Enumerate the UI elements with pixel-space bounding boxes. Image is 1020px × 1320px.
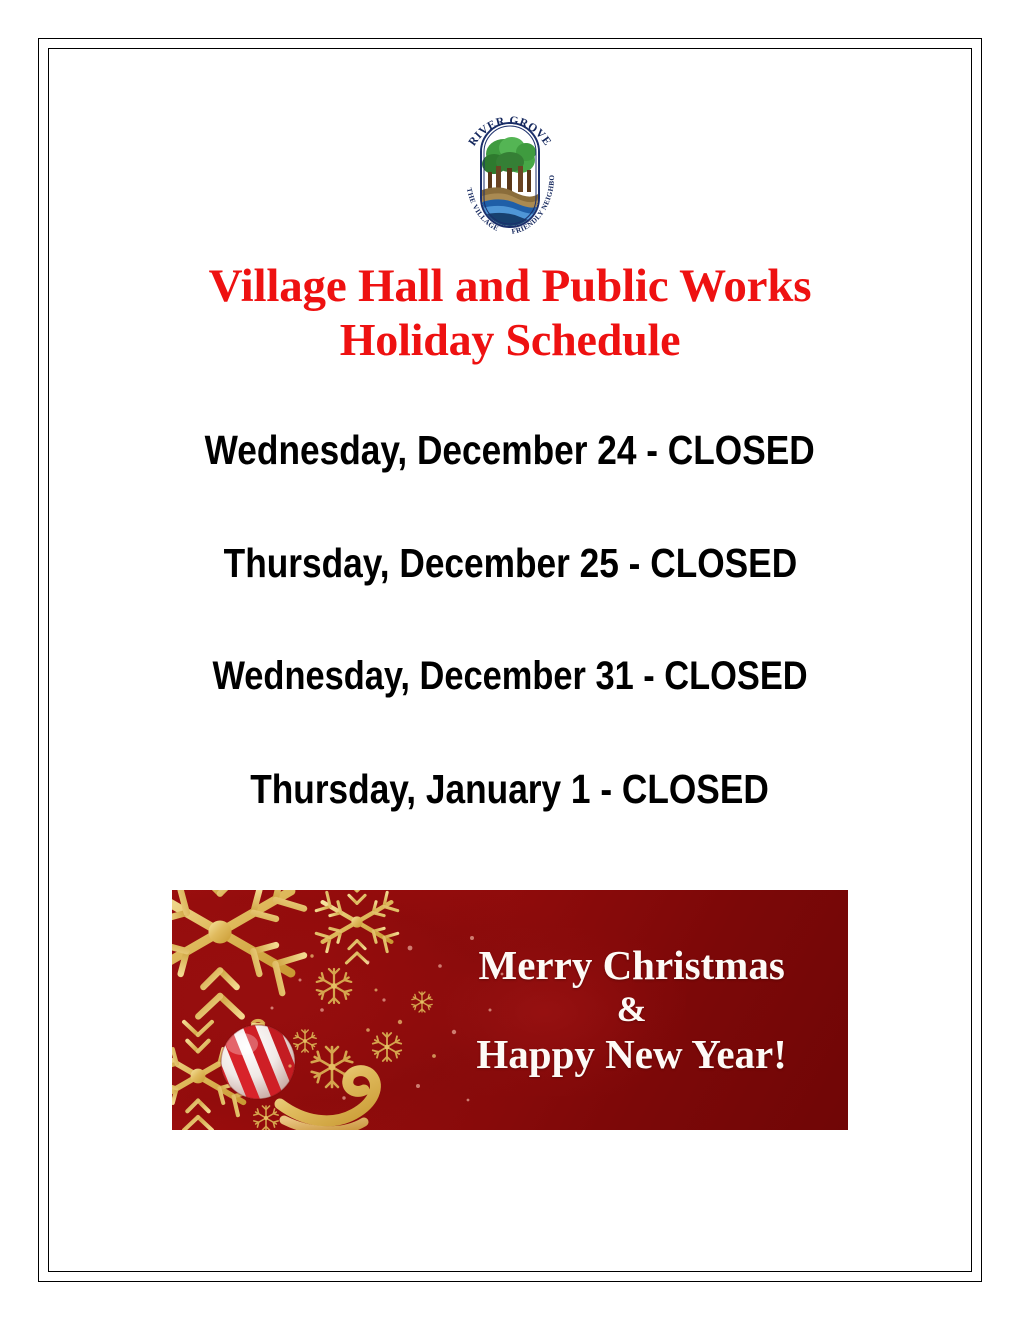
schedule-entry: Thursday, January 1 - CLOSED [48, 755, 972, 868]
schedule-entry-label: Thursday, January 1 - CLOSED [251, 755, 770, 823]
small-gold-snowflake-icon [294, 1030, 316, 1052]
river-grove-seal-icon: RIVER GROVE THE VILLAGE OF FRIENDLY NEIG… [452, 110, 568, 240]
schedule-entry-label: Wednesday, December 24 - CLOSED [205, 416, 815, 484]
holiday-schedule-list: Wednesday, December 24 - CLOSED Thursday… [48, 416, 972, 868]
banner-greeting: Merry Christmas & Happy New Year! [429, 890, 835, 1130]
page-title: Village Hall and Public Works Holiday Sc… [48, 260, 972, 366]
sparkle-dust-gold [288, 954, 436, 1067]
large-gold-snowflake-icon [172, 890, 304, 1016]
small-gold-snowflake-icon [254, 1106, 278, 1130]
schedule-entry: Wednesday, December 31 - CLOSED [48, 642, 972, 755]
merry-christmas-banner: Merry Christmas & Happy New Year! [172, 890, 848, 1130]
banner-greeting-line-1: Merry Christmas [479, 941, 785, 989]
banner-greeting-line-2: Happy New Year! [476, 1029, 787, 1079]
gold-ribbon-swirl-icon [280, 1071, 375, 1130]
small-gold-snowflake-icon [373, 1033, 401, 1061]
page-title-line-2: Holiday Schedule [48, 313, 972, 366]
gold-snowflake-icon [316, 890, 397, 963]
banner-greeting-ampersand: & [617, 989, 647, 1029]
schedule-entry: Wednesday, December 24 - CLOSED [48, 416, 972, 529]
schedule-entry: Thursday, December 25 - CLOSED [48, 529, 972, 642]
schedule-entry-label: Wednesday, December 31 - CLOSED [212, 642, 807, 710]
page-title-line-1: Village Hall and Public Works [48, 260, 972, 313]
village-seal-container: RIVER GROVE THE VILLAGE OF FRIENDLY NEIG… [48, 110, 972, 240]
small-gold-snowflake-icon [317, 969, 352, 1003]
poster-page: RIVER GROVE THE VILLAGE OF FRIENDLY NEIG… [0, 0, 1020, 1320]
poster-content: RIVER GROVE THE VILLAGE OF FRIENDLY NEIG… [48, 48, 972, 1272]
schedule-entry-label: Thursday, December 25 - CLOSED [223, 529, 796, 597]
